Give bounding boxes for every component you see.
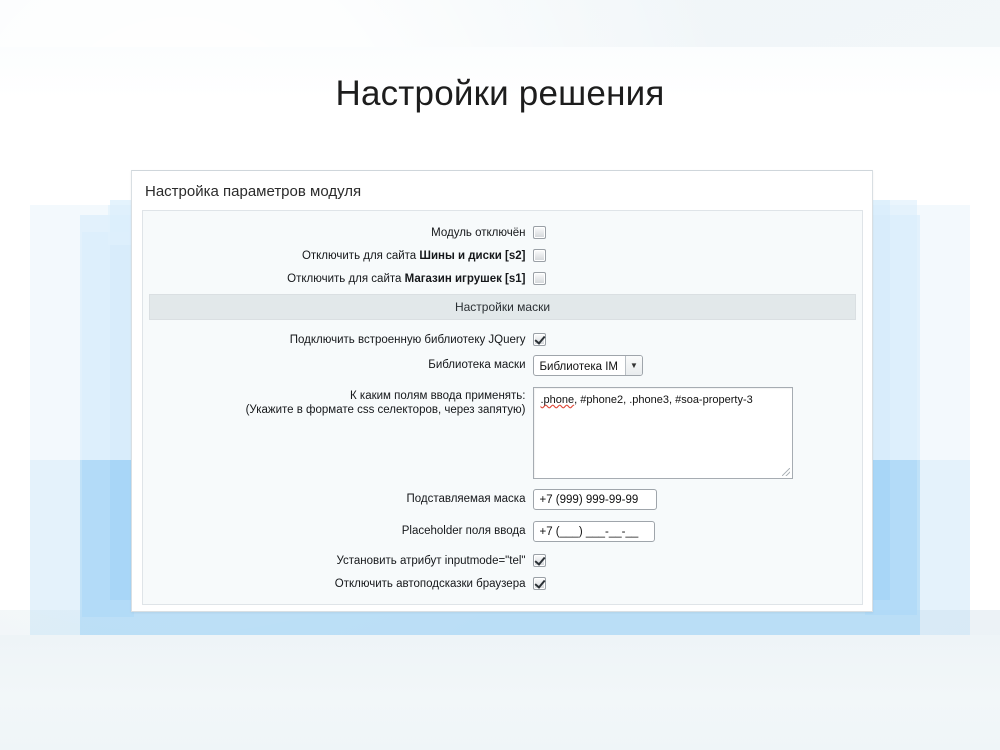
textarea-spellchecked-token: .phone: [541, 394, 575, 406]
label-site-name-s1: Магазин игрушек [s1]: [405, 273, 526, 285]
label-target-selectors-line2: (Укажите в формате css селекторов, через…: [173, 403, 526, 417]
control-module-disabled: [533, 225, 833, 239]
row-mask-library: Библиотека маски Библиотека IM ▼: [143, 355, 862, 376]
input-applied-mask[interactable]: +7 (999) 999-99-99: [533, 489, 657, 510]
row-include-jquery: Подключить встроенную библиотеку JQuery: [143, 332, 862, 347]
select-mask-library-value: Библиотека IM: [534, 356, 626, 375]
label-target-selectors: К каким полям ввода применять: (Укажите …: [173, 387, 533, 417]
section-header-mask-settings: Настройки маски: [149, 294, 856, 320]
label-mask-library: Библиотека маски: [173, 355, 533, 372]
card-title: Настройка параметров модуля: [132, 171, 872, 210]
control-applied-mask: +7 (999) 999-99-99: [533, 489, 833, 510]
chevron-down-icon[interactable]: ▼: [625, 356, 642, 375]
row-disable-site-s2: Отключить для сайта Шины и диски [s2]: [143, 248, 862, 263]
label-disable-autocomplete: Отключить автоподсказки браузера: [173, 576, 533, 591]
checkbox-disable-autocomplete[interactable]: [533, 577, 546, 590]
label-input-placeholder: Placeholder поля ввода: [173, 521, 533, 538]
row-disable-autocomplete: Отключить автоподсказки браузера: [143, 576, 862, 591]
label-module-disabled: Модуль отключён: [173, 225, 533, 240]
resize-grip-icon[interactable]: [782, 468, 790, 476]
textarea-target-selectors[interactable]: .phone, #phone2, .phone3, #soa-property-…: [533, 387, 793, 479]
control-set-inputmode: [533, 553, 833, 567]
checkbox-set-inputmode[interactable]: [533, 554, 546, 567]
label-site-name-s2: Шины и диски [s2]: [419, 250, 525, 262]
label-applied-mask: Подставляемая маска: [173, 489, 533, 506]
settings-panel: Модуль отключён Отключить для сайта Шины…: [142, 210, 863, 605]
checkbox-include-jquery[interactable]: [533, 333, 546, 346]
row-disable-site-s1: Отключить для сайта Магазин игрушек [s1]: [143, 271, 862, 286]
label-disable-site-s2: Отключить для сайта Шины и диски [s2]: [173, 248, 533, 263]
page-title: Настройки решения: [335, 74, 664, 114]
row-target-selectors: К каким полям ввода применять: (Укажите …: [143, 387, 862, 479]
page-title-container: Настройки решения: [0, 58, 1000, 130]
control-input-placeholder: +7 (___) ___-__-__: [533, 521, 833, 542]
label-include-jquery: Подключить встроенную библиотеку JQuery: [173, 332, 533, 347]
select-mask-library[interactable]: Библиотека IM ▼: [533, 355, 644, 376]
checkbox-disable-site-s1[interactable]: [533, 272, 546, 285]
label-disable-site-s1: Отключить для сайта Магазин игрушек [s1]: [173, 271, 533, 286]
checkbox-module-disabled[interactable]: [533, 226, 546, 239]
background-bottom-fade: [0, 635, 1000, 750]
input-input-placeholder[interactable]: +7 (___) ___-__-__: [533, 521, 655, 542]
control-mask-library: Библиотека IM ▼: [533, 355, 833, 376]
control-disable-autocomplete: [533, 576, 833, 590]
row-set-inputmode: Установить атрибут inputmode="tel": [143, 553, 862, 568]
control-include-jquery: [533, 332, 833, 346]
label-prefix-s1: Отключить для сайта: [287, 273, 404, 285]
control-disable-site-s1: [533, 271, 833, 285]
row-input-placeholder: Placeholder поля ввода +7 (___) ___-__-_…: [143, 521, 862, 542]
textarea-rest-value: , #phone2, .phone3, #soa-property-3: [574, 394, 753, 406]
settings-card: Настройка параметров модуля Модуль отклю…: [131, 170, 873, 612]
checkbox-disable-site-s2[interactable]: [533, 249, 546, 262]
row-applied-mask: Подставляемая маска +7 (999) 999-99-99: [143, 489, 862, 510]
control-disable-site-s2: [533, 248, 833, 262]
label-target-selectors-line1: К каким полям ввода применять:: [173, 389, 526, 403]
row-module-disabled: Модуль отключён: [143, 225, 862, 240]
label-set-inputmode: Установить атрибут inputmode="tel": [173, 553, 533, 568]
label-prefix-s2: Отключить для сайта: [302, 250, 419, 262]
control-target-selectors: .phone, #phone2, .phone3, #soa-property-…: [533, 387, 833, 479]
